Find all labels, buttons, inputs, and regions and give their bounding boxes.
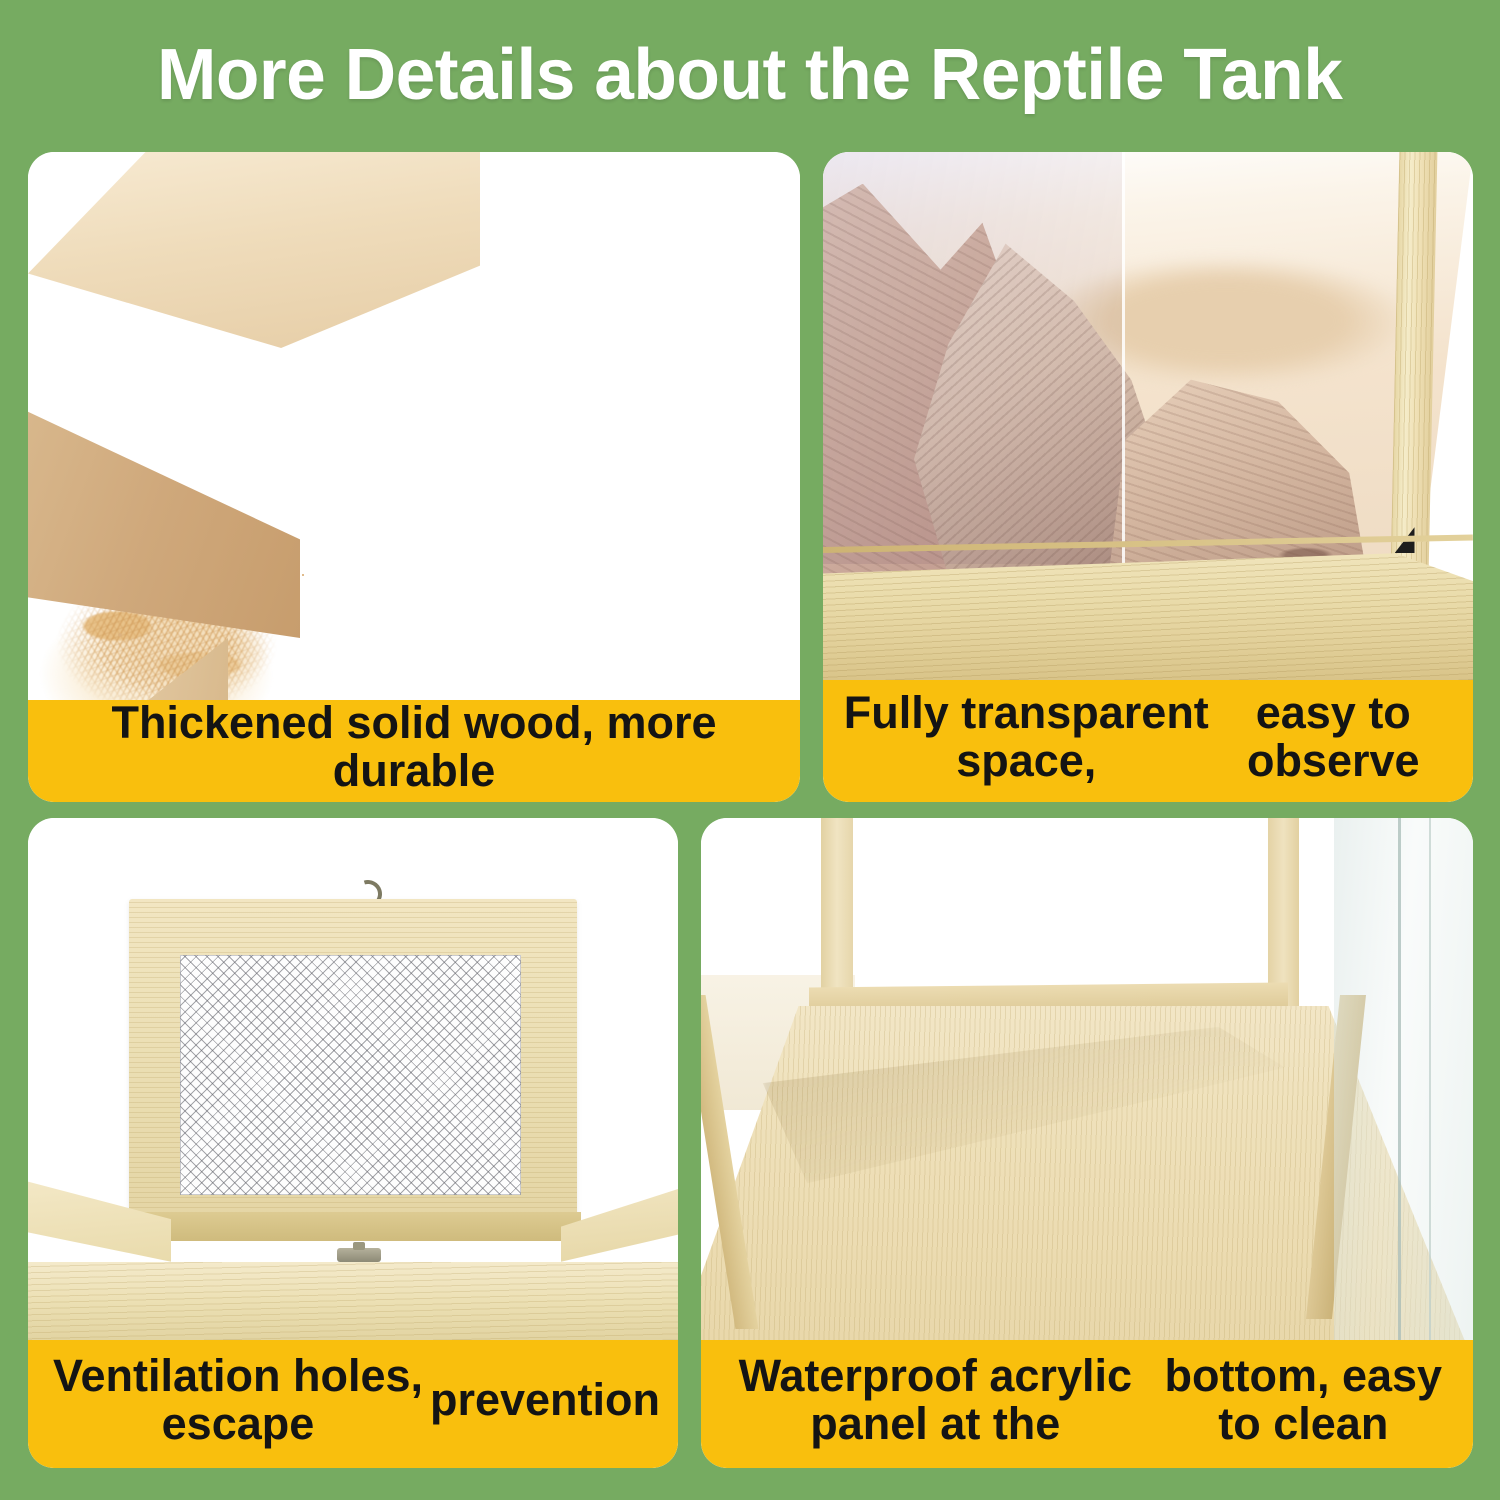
lid-bottom-lip	[126, 1212, 581, 1241]
page-header: More Details about the Reptile Tank	[0, 0, 1500, 150]
caption-fully-transparent-space: Fully transparent space, easy to observe	[823, 680, 1473, 802]
glass-edge-inner	[1398, 818, 1401, 1340]
caption-line-1: Ventilation holes, escape	[46, 1352, 430, 1448]
caption-line-2: easy to observe	[1212, 689, 1455, 785]
feature-card-thickened-solid-wood[interactable]: Thickened solid wood, more durable	[28, 152, 800, 802]
wood-blocks-photo	[28, 152, 800, 700]
caption-ventilation-holes: Ventilation holes, escape prevention	[28, 1340, 678, 1468]
feature-card-fully-transparent-space[interactable]: Fully transparent space, easy to observe	[823, 152, 1473, 802]
wood-block-top-face	[28, 152, 480, 348]
caption-thickened-solid-wood: Thickened solid wood, more durable	[28, 700, 800, 802]
caption-line-2: bottom, easy to clean	[1152, 1352, 1455, 1448]
acrylic-panel-tint	[823, 152, 1122, 564]
acrylic-panel-seam	[1122, 152, 1125, 564]
wooden-lid-frame	[129, 899, 578, 1228]
caption-line-1: Fully transparent space,	[841, 689, 1212, 785]
caption-line-2: prevention	[430, 1376, 660, 1424]
ventilation-lid-photo	[28, 818, 678, 1340]
page-title: More Details about the Reptile Tank	[157, 39, 1342, 111]
glass-edge-outer	[1429, 818, 1431, 1340]
wire-mesh-screen	[180, 955, 521, 1195]
caption-waterproof-acrylic-panel: Waterproof acrylic panel at the bottom, …	[701, 1340, 1473, 1468]
transparent-tank-photo	[823, 152, 1473, 680]
glass-panel-right	[1334, 818, 1473, 1340]
wood-base-frame	[823, 553, 1473, 680]
feature-card-waterproof-acrylic-panel[interactable]: Waterproof acrylic panel at the bottom, …	[701, 818, 1473, 1468]
caption-line-1: Waterproof acrylic panel at the	[719, 1352, 1152, 1448]
tank-front-rail	[28, 1262, 678, 1340]
feature-card-ventilation-holes[interactable]: Ventilation holes, escape prevention	[28, 818, 678, 1468]
tank-bottom-panel-photo	[701, 818, 1473, 1340]
metal-clasp	[337, 1248, 381, 1262]
wood-corner-post	[1390, 152, 1437, 585]
feature-card-grid: Thickened solid wood, more durable Fully…	[28, 152, 1473, 1468]
